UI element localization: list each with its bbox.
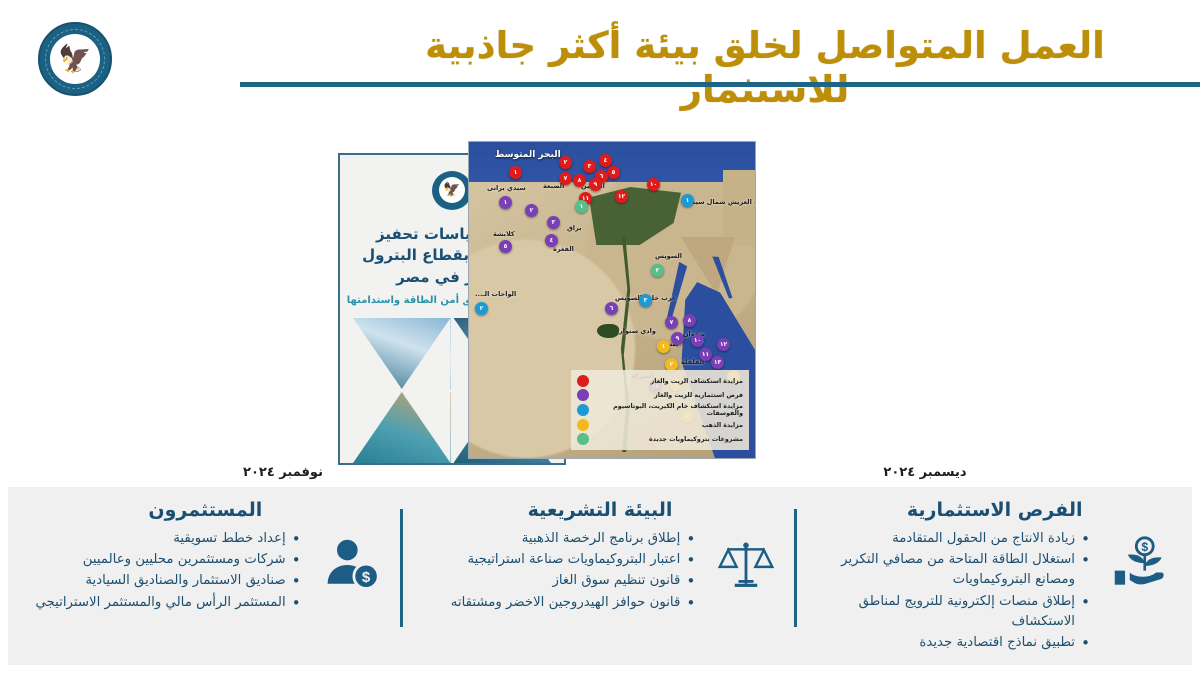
- map-pin[interactable]: ٦: [605, 302, 618, 315]
- list-item: صناديق الاستثمار والصناديق السيادية: [22, 571, 301, 591]
- map-legend-dot: [577, 375, 589, 387]
- list-item: إعداد خطط تسويقية: [22, 529, 301, 549]
- map-place-label: الواحات الـ...: [475, 290, 516, 298]
- map-place-label: سيدي برانى: [487, 184, 526, 192]
- map-legend: مزايدة استكشاف الزيت والغازفرص استثمارية…: [571, 370, 749, 450]
- map-legend-row: مزايدة استكشاف خام الكبريت، البوتاسيوم و…: [577, 403, 743, 417]
- fayoum-lake: [597, 324, 619, 338]
- map-pin[interactable]: ١: [681, 194, 694, 207]
- title-underline-rule: [240, 82, 1200, 87]
- map-place-label: كلابشة: [493, 230, 515, 238]
- map-place-label: السويس: [655, 252, 682, 260]
- slide-root: 🦅 العمل المتواصل لخلق بيئة أكثر جاذبية ل…: [0, 0, 1200, 675]
- map-legend-label: مزايدة الذهب: [595, 422, 743, 429]
- map-pin[interactable]: ١٠: [691, 334, 704, 347]
- egypt-investment-map[interactable]: البحر المتوسط سيدي برانىالضبعةالعلمينكلا…: [468, 141, 756, 459]
- map-pin[interactable]: ٨: [573, 174, 586, 187]
- map-place-label: دكة العريش شمال سيناء: [687, 198, 756, 206]
- map-place-label: وادي سنوار: [619, 327, 656, 335]
- bottom-column-body: $ زيادة الانتاج من الحقول المتقادمةاستغل…: [811, 529, 1178, 654]
- seal-ring: [45, 29, 105, 89]
- map-legend-dot: [577, 419, 589, 431]
- bottom-column-1: الفرص الاستثمارية $ زيادة الانتاج من الح…: [797, 487, 1192, 665]
- list-item: المستثمر الرأس مالي والمستثمر الاستراتيج…: [22, 593, 301, 613]
- list-item: استغلال الطاقة المتاحة من مصافي التكرير …: [811, 550, 1090, 590]
- bottom-column-body: $ إعداد خطط تسويقيةشركات ومستثمرين محليي…: [22, 529, 389, 614]
- list-item: قانون تنظيم سوق الغاز: [417, 571, 696, 591]
- map-pin[interactable]: ٢: [475, 302, 488, 315]
- list-item: قانون حوافز الهيدروجين الاخضر ومشتقاته: [417, 593, 696, 613]
- mining-strategy-card-wrap: 🦅 استراتيجية تطوير قطاع التعدين ضبط الهي…: [819, 143, 1031, 488]
- map-pin[interactable]: ٢: [525, 204, 538, 217]
- map-pin[interactable]: ١٠: [647, 178, 660, 191]
- map-place-label: براق: [567, 224, 582, 232]
- map-legend-label: مشروعات بتروكيماويات جديدة: [595, 436, 743, 443]
- mining-strategy-caption: ديسمبر ٢٠٢٤: [819, 465, 1031, 480]
- bottom-column-bullet-list: زيادة الانتاج من الحقول المتقادمةاستغلال…: [811, 529, 1094, 654]
- list-item: اعتبار البتروكيماويات صناعة استراتيجية: [417, 550, 696, 570]
- map-pin[interactable]: ١: [499, 196, 512, 209]
- policy-paper-caption: نوفمبر ٢٠٢٤: [169, 465, 397, 480]
- bottom-column-2: البيئة التشريعية إطلاق برنامج الرخصة الذ…: [403, 487, 798, 665]
- bottom-column-heading: الفرص الاستثمارية: [811, 499, 1178, 521]
- bottom-column-heading: البيئة التشريعية: [417, 499, 784, 521]
- map-pin[interactable]: ٣: [583, 160, 596, 173]
- map-pin[interactable]: ١٢: [615, 190, 628, 203]
- map-legend-row: مزايدة استكشاف الزيت والغاز: [577, 375, 743, 387]
- map-legend-row: فرص استثمارية للزيت والغاز: [577, 389, 743, 401]
- map-pin[interactable]: ٣: [639, 294, 652, 307]
- map-legend-dot: [577, 433, 589, 445]
- map-pin[interactable]: ٥: [499, 240, 512, 253]
- svg-text:$: $: [362, 569, 371, 586]
- map-pin[interactable]: ٧: [665, 316, 678, 329]
- map-pin[interactable]: ١١: [699, 348, 712, 361]
- map-legend-label: مزايدة استكشاف خام الكبريت، البوتاسيوم و…: [595, 403, 743, 417]
- map-pin[interactable]: ٢: [559, 156, 572, 169]
- page-title: العمل المتواصل لخلق بيئة أكثر جاذبية للا…: [360, 24, 1170, 113]
- map-pin[interactable]: ٩: [589, 178, 602, 191]
- bottom-column-heading: المستثمرون: [22, 499, 389, 521]
- map-pin[interactable]: ٩: [671, 332, 684, 345]
- map-legend-dot: [577, 404, 589, 416]
- map-pin[interactable]: ١: [509, 166, 522, 179]
- bottom-column-bullet-list: إطلاق برنامج الرخصة الذهبيةاعتبار البترو…: [417, 529, 700, 614]
- svg-text:$: $: [1141, 540, 1148, 554]
- map-pin[interactable]: ١: [575, 200, 588, 213]
- balance-scale-icon: [709, 529, 783, 595]
- slide-title-wrap: العمل المتواصل لخلق بيئة أكثر جاذبية للا…: [360, 24, 1170, 113]
- bottom-summary-panel: الفرص الاستثمارية $ زيادة الانتاج من الح…: [8, 487, 1192, 665]
- list-item: إطلاق برنامج الرخصة الذهبية: [417, 529, 696, 549]
- bottom-column-body: إطلاق برنامج الرخصة الذهبيةاعتبار البترو…: [417, 529, 784, 614]
- eastern-landmass: [723, 170, 756, 246]
- ministry-seal-logo: 🦅: [38, 22, 112, 96]
- map-legend-dot: [577, 389, 589, 401]
- collage-quadrant-4: [353, 392, 451, 463]
- list-item: تطبيق نماذج اقتصادية جديدة: [811, 633, 1090, 653]
- list-item: شركات ومستثمرين محليين وعالميين: [22, 550, 301, 570]
- map-legend-label: فرص استثمارية للزيت والغاز: [595, 392, 743, 399]
- map-pin[interactable]: ١: [657, 340, 670, 353]
- map-pin[interactable]: ٤: [599, 154, 612, 167]
- money-plant-in-hand-icon: $: [1104, 529, 1178, 595]
- map-pin[interactable]: ١٢: [717, 338, 730, 351]
- list-item: زيادة الانتاج من الحقول المتقادمة: [811, 529, 1090, 549]
- cards-row: 🦅 ورقة سياسات تحفيز الاستثمار بقطاع البت…: [0, 133, 1200, 478]
- map-pin[interactable]: ٤: [545, 234, 558, 247]
- policy-paper-card-wrap: 🦅 ورقة سياسات تحفيز الاستثمار بقطاع البت…: [169, 143, 397, 488]
- map-legend-row: مشروعات بتروكيماويات جديدة: [577, 433, 743, 445]
- collage-quadrant-2: [353, 318, 451, 389]
- map-pin[interactable]: ٢: [651, 264, 664, 277]
- map-legend-row: مزايدة الذهب: [577, 419, 743, 431]
- map-pin[interactable]: ٧: [559, 172, 572, 185]
- map-sea-label: البحر المتوسط: [495, 150, 561, 160]
- map-pin[interactable]: ٨: [683, 314, 696, 327]
- map-pin[interactable]: ١٣: [711, 356, 724, 369]
- map-legend-label: مزايدة استكشاف الزيت والغاز: [595, 378, 743, 385]
- map-pin[interactable]: ٣: [547, 216, 560, 229]
- map-pin[interactable]: ٥: [607, 166, 620, 179]
- list-item: إطلاق منصات إلكترونية للترويج لمناطق الا…: [811, 592, 1090, 632]
- bottom-column-bullet-list: إعداد خطط تسويقيةشركات ومستثمرين محليين …: [22, 529, 305, 614]
- investor-person-dollar-icon: $: [315, 529, 389, 595]
- policy-paper-seal-icon: 🦅: [432, 171, 472, 210]
- bottom-column-3: المستثمرون $ إعداد خطط تسويقيةشركات ومست…: [8, 487, 403, 665]
- map-place-label: الفغرة: [553, 245, 574, 253]
- bottom-columns: الفرص الاستثمارية $ زيادة الانتاج من الح…: [8, 487, 1192, 665]
